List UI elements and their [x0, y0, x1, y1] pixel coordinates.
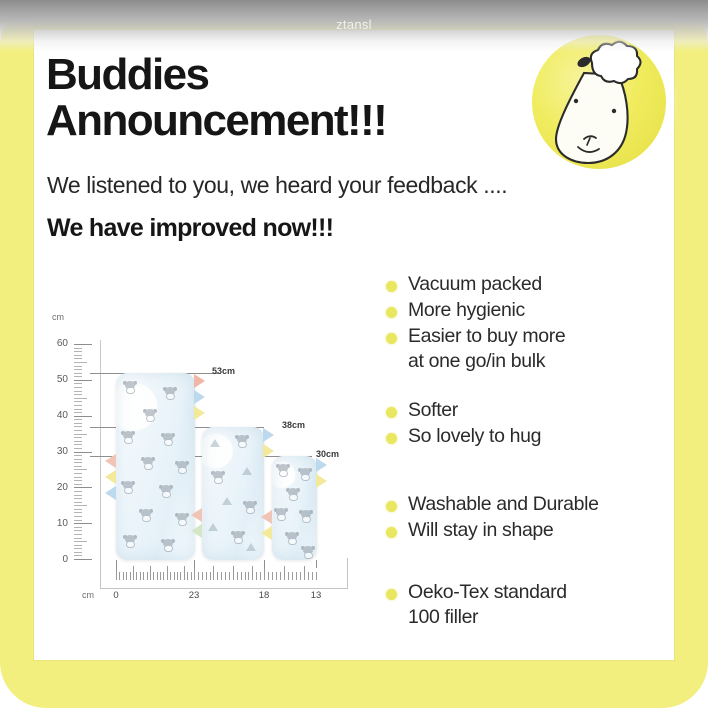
- ruler-tick: [74, 455, 82, 456]
- ruler-tick: [74, 448, 82, 449]
- fabric-tab-icon: [261, 510, 272, 524]
- fabric-tab-icon: [263, 444, 274, 458]
- ruler-tick: [74, 459, 82, 460]
- title-line-2: Announcement!!!: [46, 98, 516, 144]
- ruler-tick: [272, 572, 273, 580]
- ruler-tick: [248, 572, 249, 580]
- ruler-tick: [194, 566, 195, 580]
- ruler-tick: [74, 380, 92, 381]
- benefit-label: Will stay in shape: [408, 518, 553, 543]
- ruler-tick: [174, 572, 175, 580]
- fabric-tab-icon: [191, 508, 202, 522]
- ruler-tick: [177, 572, 178, 580]
- ruler-tick: [74, 358, 82, 359]
- drop-line: [316, 560, 317, 568]
- ruler-tick: [150, 566, 151, 580]
- ruler-tick: [187, 572, 188, 580]
- drop-line: [194, 560, 195, 568]
- benefits-list: Vacuum packed More hygienic Easier to bu…: [386, 272, 666, 631]
- ruler-tick: [74, 423, 82, 424]
- ruler-tick: [74, 444, 82, 445]
- ruler-tick: [74, 534, 82, 535]
- list-spacer: [386, 376, 666, 398]
- ruler-tick: [74, 516, 82, 517]
- benefit-group-1: Vacuum packed More hygienic Easier to bu…: [386, 272, 666, 375]
- drop-line: [116, 560, 117, 568]
- ruler-tick: [198, 572, 199, 580]
- ruler-tick: [74, 362, 87, 363]
- ruler-tick: [74, 348, 82, 349]
- ruler-tick: [74, 355, 82, 356]
- y-tick-label: 50: [48, 374, 68, 385]
- ruler-tick: [74, 426, 82, 427]
- ruler-tick: [300, 572, 301, 580]
- bullet-dot-icon: [386, 333, 397, 344]
- ruler-tick: [74, 344, 92, 345]
- benefit-label: Softer: [408, 398, 458, 423]
- ruler-tick: [74, 473, 82, 474]
- bullet-dot-icon: [386, 501, 397, 512]
- ruler-tick: [74, 520, 82, 521]
- ruler-tick: [260, 572, 261, 580]
- pillow-large: [116, 373, 195, 560]
- fabric-tab-icon: [105, 470, 116, 484]
- benefit-label: Oeko-Tex standard 100 filler: [408, 580, 567, 630]
- ruler-tick: [264, 566, 265, 580]
- ruler-tick: [74, 434, 87, 435]
- bullet-dot-icon: [386, 589, 397, 600]
- ruler-tick: [74, 538, 82, 539]
- fabric-tab-icon: [105, 486, 116, 500]
- y-tick-label: 20: [48, 482, 68, 493]
- ruler-tick: [143, 572, 144, 580]
- page-title: Buddies Announcement!!!: [46, 52, 516, 144]
- x-axis-unit-label: cm: [82, 590, 94, 600]
- y-tick-label: 60: [48, 338, 68, 349]
- ruler-tick: [74, 387, 82, 388]
- ruler-tick: [74, 477, 82, 478]
- benefit-group-4: Oeko-Tex standard 100 filler: [386, 580, 666, 630]
- ruler-tick: [233, 566, 234, 580]
- ruler-tick: [74, 484, 82, 485]
- ruler-tick: [133, 566, 134, 580]
- ruler-tick: [74, 462, 82, 463]
- ruler-tick: [116, 566, 117, 580]
- ruler-tick: [157, 572, 158, 580]
- ruler-tick: [268, 572, 269, 580]
- list-item: Washable and Durable: [386, 492, 666, 517]
- fabric-tab-icon: [261, 526, 272, 540]
- ruler-tick: [74, 383, 82, 384]
- ruler-tick: [312, 572, 313, 580]
- ruler-tick: [74, 391, 82, 392]
- x-tick-label: 13: [311, 590, 322, 601]
- list-spacer: [386, 544, 666, 580]
- fabric-tab-icon: [194, 390, 205, 404]
- ruler-tick: [74, 491, 82, 492]
- ruler-tick: [74, 530, 82, 531]
- ruler-tick: [74, 419, 82, 420]
- bullet-dot-icon: [386, 307, 397, 318]
- benefit-label: Washable and Durable: [408, 492, 599, 517]
- sheep-logo: [526, 29, 672, 175]
- fabric-tab-icon: [316, 458, 327, 472]
- ruler-tick: [74, 394, 82, 395]
- ruler-tick: [74, 466, 82, 467]
- horizontal-ruler: cm 0 23 18 13: [100, 558, 348, 598]
- fabric-tab-icon: [316, 474, 327, 488]
- ruler-tick: [304, 566, 305, 580]
- ruler-tick: [74, 495, 82, 496]
- ruler-tick: [74, 351, 82, 352]
- list-item: Softer: [386, 398, 666, 423]
- ruler-tick: [229, 572, 230, 580]
- ruler-tick: [170, 572, 171, 580]
- size-tag-medium: 38cm: [282, 420, 305, 430]
- ruler-tick: [191, 572, 192, 580]
- benefit-group-2: Softer So lovely to hug: [386, 398, 666, 449]
- ruler-tick: [136, 572, 137, 580]
- ruler-tick: [74, 512, 82, 513]
- ruler-tick: [74, 548, 82, 549]
- bullet-dot-icon: [386, 433, 397, 444]
- ruler-tick: [221, 572, 222, 580]
- ruler-tick: [74, 555, 82, 556]
- vertical-ruler: [74, 344, 94, 559]
- ruler-tick: [217, 572, 218, 580]
- ruler-tick: [202, 572, 203, 580]
- list-spacer: [386, 450, 666, 492]
- ruler-tick: [180, 572, 181, 580]
- pillow-small: [272, 456, 317, 560]
- ruler-tick: [74, 416, 92, 417]
- benefit-group-3: Washable and Durable Will stay in shape: [386, 492, 666, 543]
- drop-line: [264, 560, 265, 568]
- ruler-tick: [130, 572, 131, 580]
- y-tick-label: 0: [48, 554, 68, 565]
- y-tick-label: 30: [48, 446, 68, 457]
- sheep-icon: [526, 29, 672, 175]
- x-tick-label: 23: [189, 590, 200, 601]
- ruler-tick: [252, 566, 253, 580]
- ruler-tick: [74, 401, 82, 402]
- poster-inner-panel: Buddies Announcement!!! We listened to y…: [34, 26, 674, 660]
- y-tick-label: 10: [48, 518, 68, 529]
- ruler-tick: [123, 572, 124, 580]
- ruler-tick: [74, 398, 87, 399]
- ruler-tick: [74, 469, 87, 470]
- list-item: Easier to buy more at one go/in bulk: [386, 324, 666, 374]
- bullet-dot-icon: [386, 407, 397, 418]
- ruler-tick: [167, 566, 168, 580]
- ruler-tick: [119, 572, 120, 580]
- list-item: Vacuum packed: [386, 272, 666, 297]
- ruler-tick: [74, 541, 87, 542]
- ruler-tick: [74, 559, 92, 560]
- ruler-tick: [206, 572, 207, 580]
- ruler-tick: [74, 502, 82, 503]
- ruler-tick: [74, 487, 92, 488]
- ruler-tick: [316, 572, 317, 580]
- ruler-tick: [74, 523, 92, 524]
- ruler-tick: [153, 572, 154, 580]
- ruler-tick: [213, 566, 214, 580]
- ruler-tick: [241, 572, 242, 580]
- ruler-tick: [296, 572, 297, 580]
- ruler-tick: [74, 369, 82, 370]
- ruler-tick: [237, 572, 238, 580]
- x-tick-label: 0: [113, 590, 118, 601]
- benefit-label: Easier to buy more at one go/in bulk: [408, 324, 565, 374]
- ruler-tick: [184, 566, 185, 580]
- fabric-tab-icon: [105, 454, 116, 468]
- ruler-tick: [74, 441, 82, 442]
- ruler-tick: [210, 572, 211, 580]
- benefit-label: Vacuum packed: [408, 272, 542, 297]
- ruler-tick: [74, 552, 82, 553]
- ruler-tick: [288, 572, 289, 580]
- ruler-tick: [280, 572, 281, 580]
- fabric-tab-icon: [191, 524, 202, 538]
- fabric-tab-icon: [194, 406, 205, 420]
- ruler-tick: [74, 452, 92, 453]
- ruler-tick: [160, 572, 161, 580]
- ruler-tick: [74, 480, 82, 481]
- ruler-tick: [225, 572, 226, 580]
- subtitle-text: We listened to you, we heard your feedba…: [47, 172, 527, 199]
- ruler-tick: [74, 366, 82, 367]
- ruler-tick: [74, 509, 82, 510]
- ruler-tick: [74, 373, 82, 374]
- ruler-tick: [140, 572, 141, 580]
- ruler-tick: [256, 572, 257, 580]
- list-item: More hygienic: [386, 298, 666, 323]
- ruler-tick: [147, 572, 148, 580]
- ruler-tick: [292, 572, 293, 580]
- benefit-label: So lovely to hug: [408, 424, 541, 449]
- ruler-tick: [74, 412, 82, 413]
- emphasis-text: We have improved now!!!: [47, 214, 527, 243]
- size-comparison-chart: cm 60 50 40 30 20 10 0 53cm 38cm 30cm: [44, 312, 364, 602]
- y-axis-unit-label: cm: [52, 312, 64, 322]
- benefit-label: More hygienic: [408, 298, 525, 323]
- fabric-tab-icon: [194, 374, 205, 388]
- x-tick-label: 18: [259, 590, 270, 601]
- list-item: So lovely to hug: [386, 424, 666, 449]
- ruler-tick: [74, 437, 82, 438]
- size-tag-large: 53cm: [212, 366, 235, 376]
- ruler-tick: [74, 505, 87, 506]
- pillow-medium: [202, 427, 264, 560]
- ruler-tick: [74, 409, 82, 410]
- fabric-tab-icon: [263, 428, 274, 442]
- ruler-tick: [74, 498, 82, 499]
- ruler-tick: [74, 545, 82, 546]
- ruler-tick: [74, 527, 82, 528]
- ruler-tick: [276, 572, 277, 580]
- list-item: Oeko-Tex standard 100 filler: [386, 580, 666, 630]
- ruler-tick: [74, 376, 82, 377]
- ruler-tick: [284, 566, 285, 580]
- ruler-tick: [74, 405, 82, 406]
- ruler-tick: [163, 572, 164, 580]
- ruler-tick: [245, 572, 246, 580]
- poster-card: Buddies Announcement!!! We listened to y…: [0, 0, 708, 708]
- bullet-dot-icon: [386, 281, 397, 292]
- y-tick-label: 40: [48, 410, 68, 421]
- ruler-tick: [308, 572, 309, 580]
- ruler-tick: [74, 430, 82, 431]
- title-line-1: Buddies: [46, 52, 516, 98]
- bullet-dot-icon: [386, 527, 397, 538]
- ruler-tick: [126, 572, 127, 580]
- list-item: Will stay in shape: [386, 518, 666, 543]
- watermark-text: ztansl: [0, 17, 708, 32]
